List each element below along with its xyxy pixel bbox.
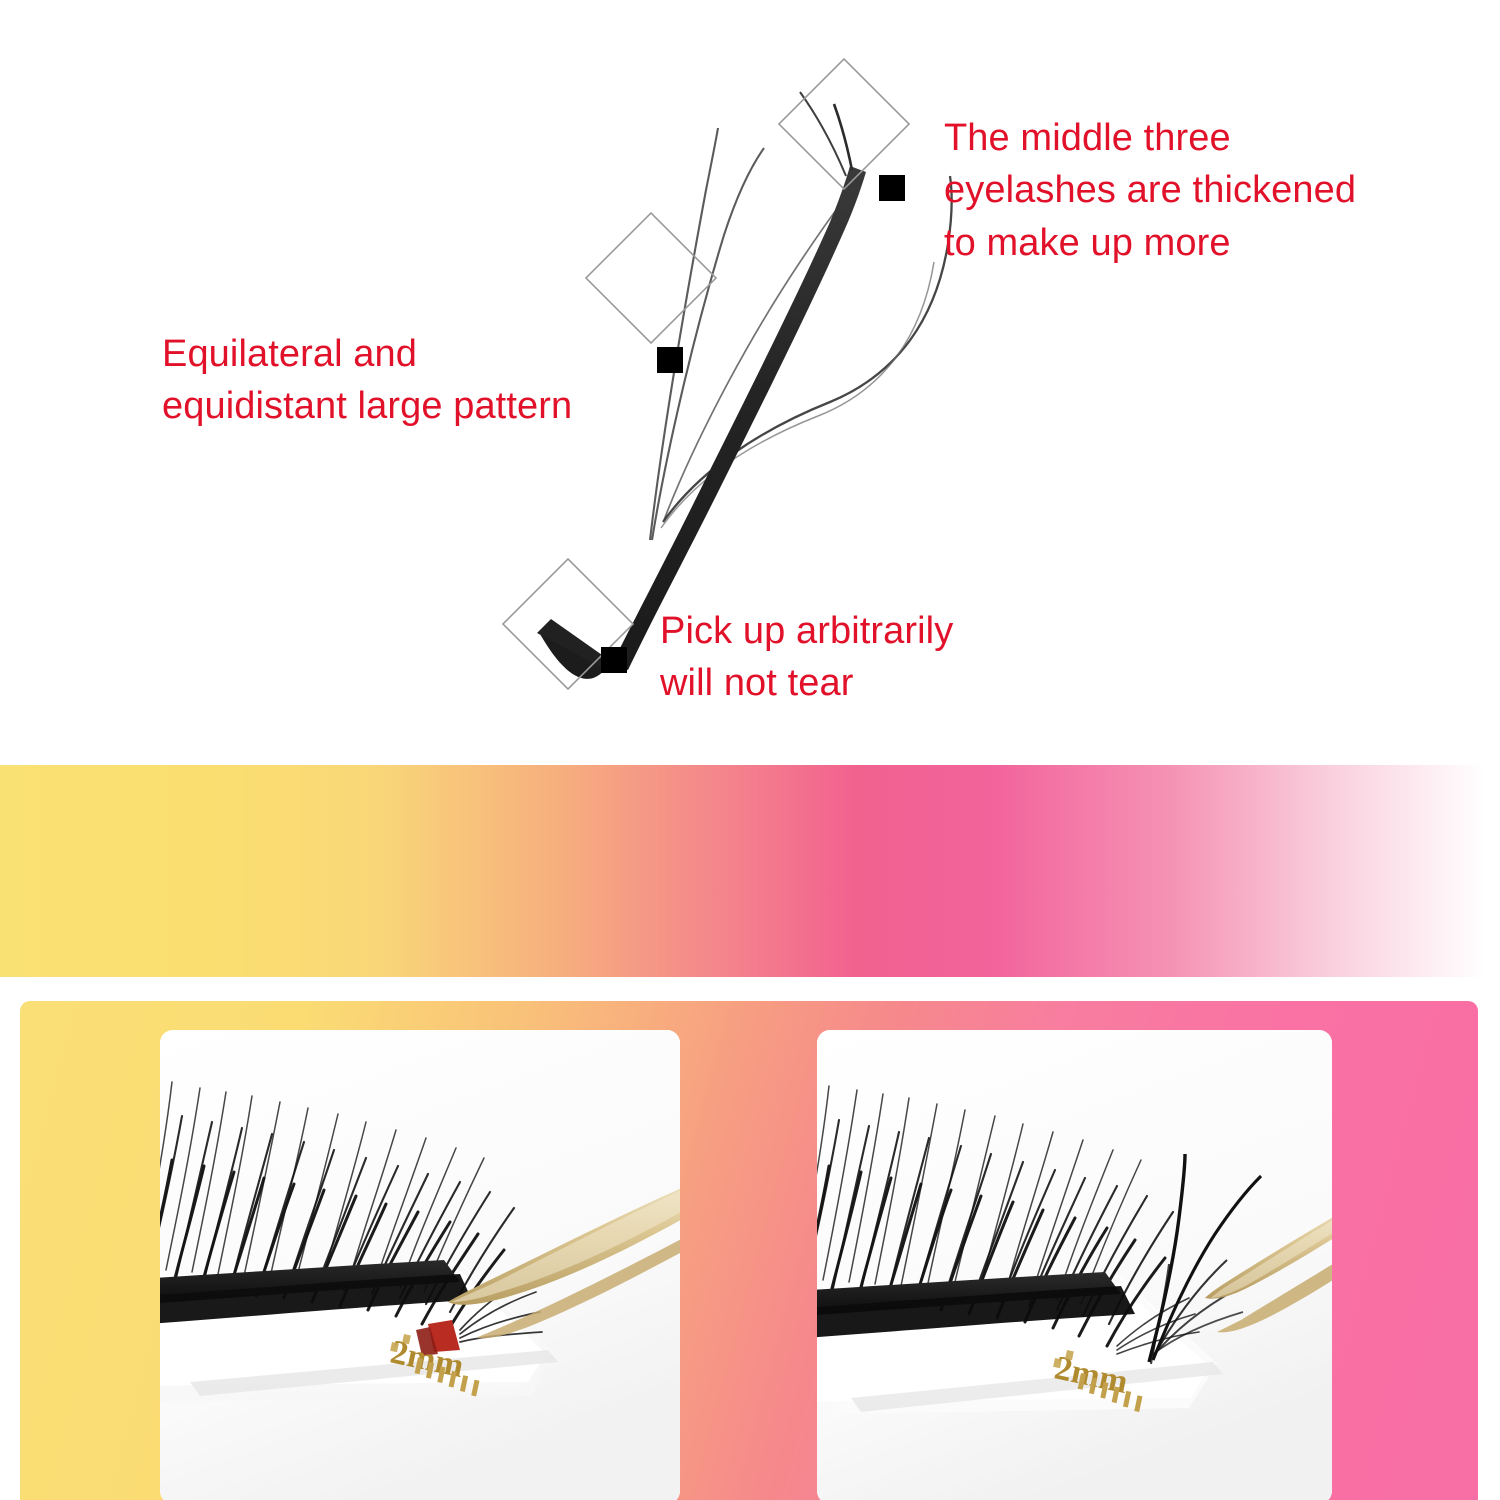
square-marker-bottom [601, 647, 627, 673]
product-infographic-page: The middle three eyelashes are thickened… [0, 0, 1500, 1500]
callout-equilateral-equidistant: Equilateral and equidistant large patter… [162, 328, 642, 433]
lash-fan-diagram-section: The middle three eyelashes are thickened… [0, 0, 1500, 765]
callout-pick-up-no-tear: Pick up arbitrarily will not tear [660, 605, 1060, 710]
lash-tray-illustration-left: 2mm [160, 1030, 680, 1500]
square-marker-middle [657, 347, 683, 373]
square-marker-top [879, 175, 905, 201]
feature-banner: EASY TO USE & SAVING TIME No skills need… [0, 765, 1500, 977]
product-photo-panel: 2mm [20, 1001, 1478, 1500]
lash-tray-photo-left: 2mm [160, 1030, 680, 1500]
callout-middle-three-thickened: The middle three eyelashes are thickened… [944, 112, 1404, 269]
lash-tray-illustration-right: 2mm [817, 1030, 1332, 1500]
lash-tray-photo-right: 2mm [817, 1030, 1332, 1500]
diamond-outline-middle [586, 213, 716, 343]
